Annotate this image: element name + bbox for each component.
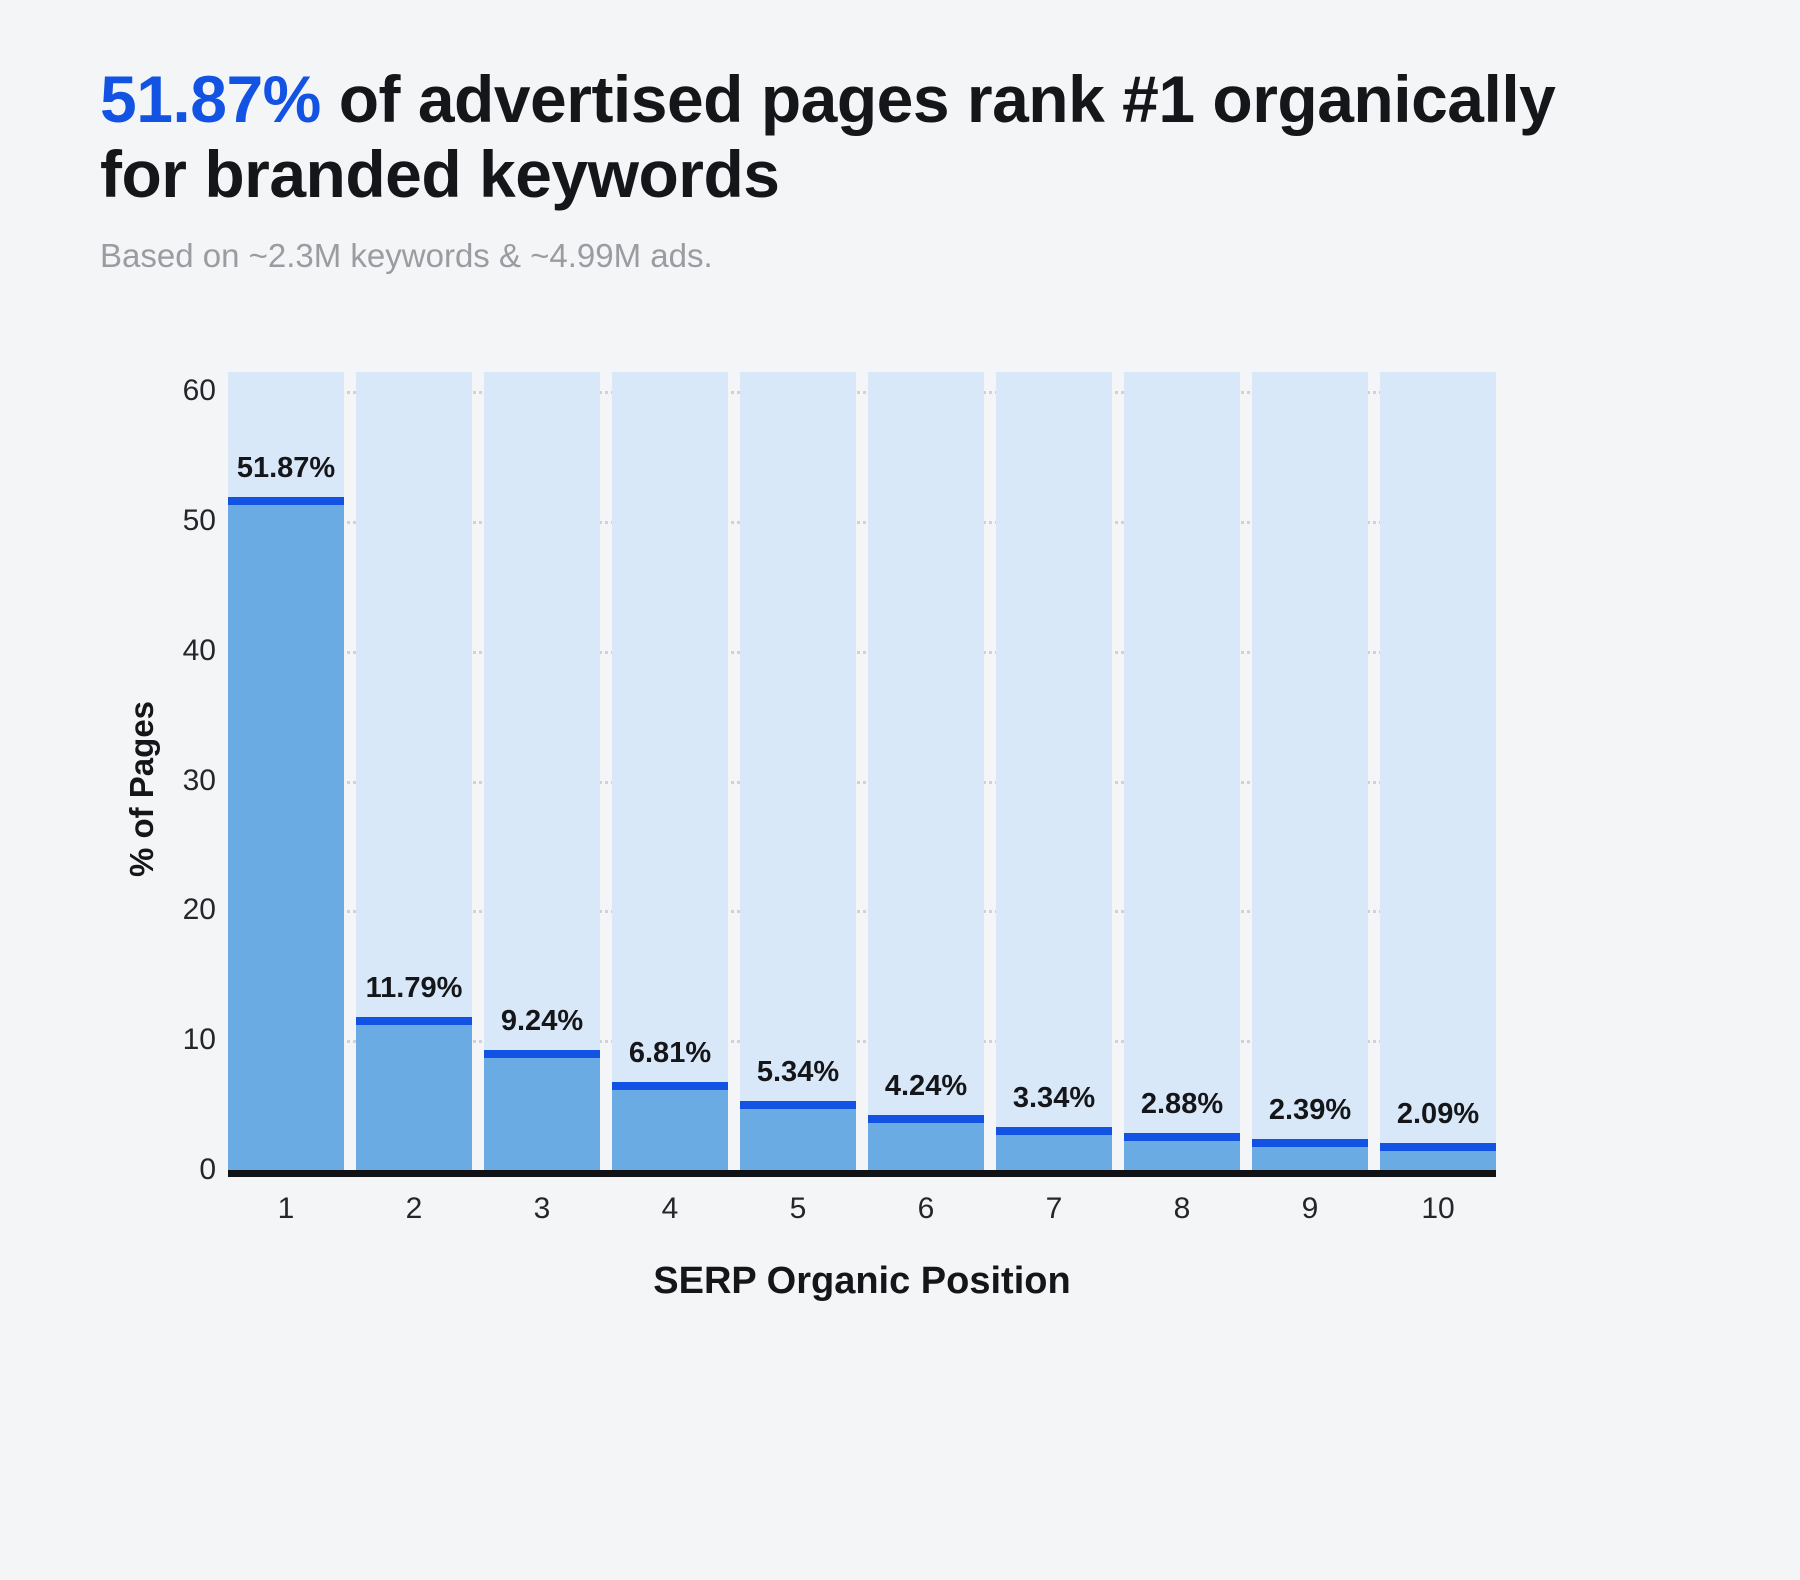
bar-slot[interactable]: 2.88% (1124, 372, 1240, 1170)
x-axis-tick-labels: 12345678910 (228, 1192, 1496, 1226)
y-axis-tick-label: 60 (183, 374, 216, 408)
bar-value-label: 11.79% (356, 972, 472, 1005)
bar-slot[interactable]: 2.09% (1380, 372, 1496, 1170)
title-accent-value: 51.87% (100, 62, 321, 136)
x-axis-line (228, 1170, 1496, 1177)
bar[interactable] (868, 1115, 984, 1170)
bar-slot[interactable]: 51.87% (228, 372, 344, 1170)
bar-value-label: 51.87% (228, 452, 344, 485)
x-axis-title: SERP Organic Position (228, 1260, 1496, 1303)
y-axis-tick-label: 50 (183, 504, 216, 538)
bar-slot[interactable]: 3.34% (996, 372, 1112, 1170)
bar-chart: % of Pages 0102030405060 51.87%11.79%9.2… (0, 330, 1800, 1580)
bar-slot[interactable]: 5.34% (740, 372, 856, 1170)
bar[interactable] (996, 1127, 1112, 1170)
bar-slot[interactable]: 6.81% (612, 372, 728, 1170)
bar-slot[interactable]: 2.39% (1252, 372, 1368, 1170)
y-axis-tick-labels: 0102030405060 (120, 372, 216, 1170)
bar-series: 51.87%11.79%9.24%6.81%5.34%4.24%3.34%2.8… (228, 372, 1496, 1170)
x-axis-tick-label: 7 (996, 1192, 1112, 1226)
bar-value-label: 3.34% (996, 1082, 1112, 1115)
x-axis-tick-label: 1 (228, 1192, 344, 1226)
bar-background-track (1124, 372, 1240, 1170)
bar-value-label: 6.81% (612, 1037, 728, 1070)
bar-background-track (868, 372, 984, 1170)
bar-background-track (1380, 372, 1496, 1170)
bar-value-label: 5.34% (740, 1056, 856, 1089)
bar-value-label: 2.39% (1252, 1094, 1368, 1127)
bar-slot[interactable]: 4.24% (868, 372, 984, 1170)
x-axis-tick-label: 5 (740, 1192, 856, 1226)
bar[interactable] (484, 1050, 600, 1170)
bar[interactable] (1252, 1139, 1368, 1170)
bar[interactable] (1380, 1143, 1496, 1170)
x-axis-tick-label: 4 (612, 1192, 728, 1226)
x-axis-tick-label: 9 (1252, 1192, 1368, 1226)
bar-background-track (996, 372, 1112, 1170)
y-axis-tick-label: 20 (183, 893, 216, 927)
y-axis-tick-label: 40 (183, 634, 216, 668)
bar-value-label: 9.24% (484, 1005, 600, 1038)
bar-value-label: 4.24% (868, 1070, 984, 1103)
x-axis-tick-label: 10 (1380, 1192, 1496, 1226)
x-axis-tick-label: 2 (356, 1192, 472, 1226)
y-axis-tick-label: 10 (183, 1023, 216, 1057)
page-title: 51.87% of advertised pages rank #1 organ… (100, 62, 1600, 211)
page-subtitle: Based on ~2.3M keywords & ~4.99M ads. (100, 237, 1600, 275)
bar[interactable] (356, 1017, 472, 1170)
bar-background-track (1252, 372, 1368, 1170)
bar-slot[interactable]: 11.79% (356, 372, 472, 1170)
bar-value-label: 2.09% (1380, 1098, 1496, 1131)
bar[interactable] (612, 1082, 728, 1170)
header: 51.87% of advertised pages rank #1 organ… (100, 62, 1600, 275)
bar[interactable] (228, 497, 344, 1170)
x-axis-tick-label: 8 (1124, 1192, 1240, 1226)
infographic-page: 51.87% of advertised pages rank #1 organ… (0, 0, 1800, 1579)
bar[interactable] (1124, 1133, 1240, 1170)
x-axis-tick-label: 3 (484, 1192, 600, 1226)
y-axis-tick-label: 30 (183, 764, 216, 798)
bar[interactable] (740, 1101, 856, 1170)
bar-value-label: 2.88% (1124, 1088, 1240, 1121)
y-axis-tick-label: 0 (199, 1153, 216, 1187)
bar-background-track (740, 372, 856, 1170)
bar-slot[interactable]: 9.24% (484, 372, 600, 1170)
x-axis-tick-label: 6 (868, 1192, 984, 1226)
plot-area: 51.87%11.79%9.24%6.81%5.34%4.24%3.34%2.8… (228, 372, 1496, 1170)
